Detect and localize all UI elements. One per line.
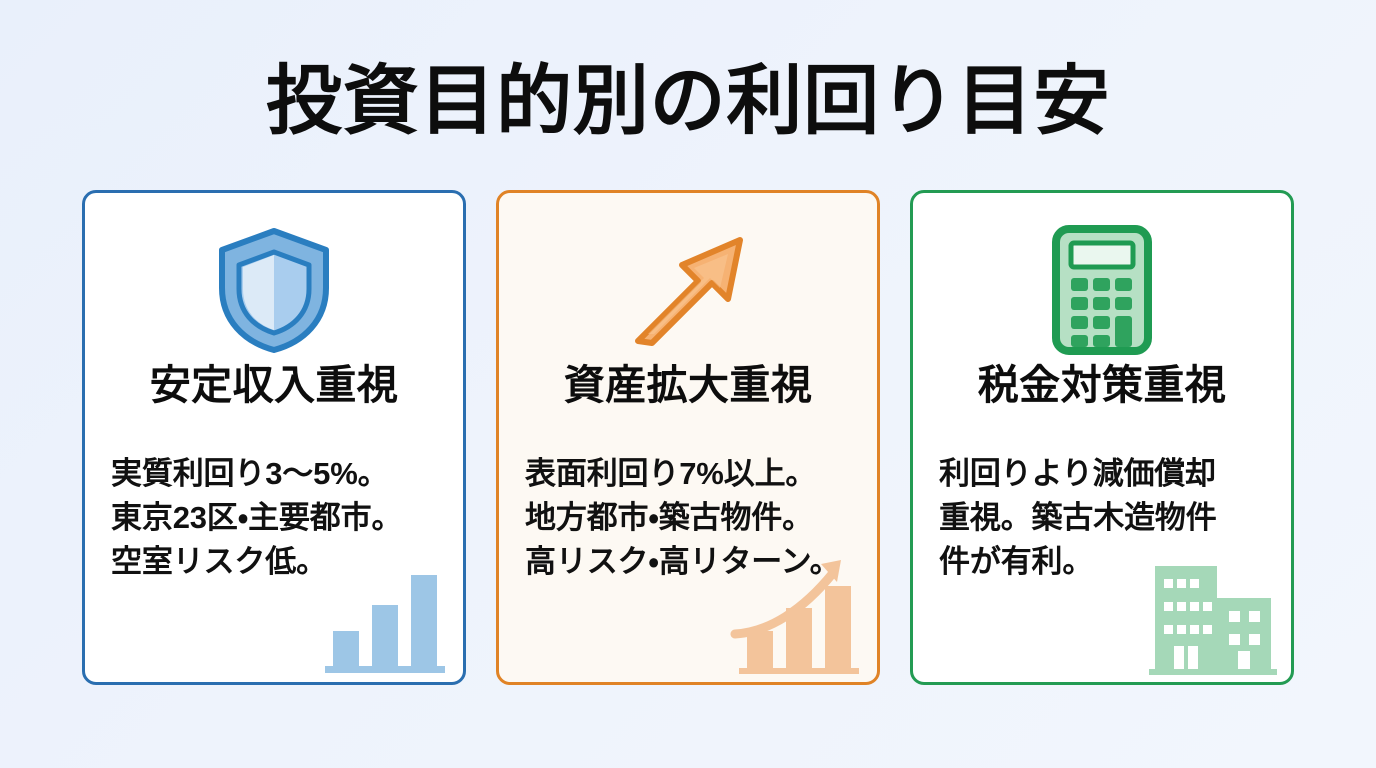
- calculator-icon: [933, 219, 1271, 361]
- card-body-line: 重視。築古木造物件: [939, 496, 1271, 540]
- card-tax-strategy[interactable]: 税金対策重視 利回りより減価償却 重視。築古木造物件 件が有利。: [910, 190, 1294, 685]
- card-body-line: 件が有利。: [939, 540, 1271, 584]
- card-body-stable-income: 実質利回り3〜5%。 東京23区・主要都市。 空室リスク低。: [105, 452, 443, 584]
- card-body-line: 東京23区・主要都市。: [111, 496, 443, 540]
- card-body-tax-strategy: 利回りより減価償却 重視。築古木造物件 件が有利。: [933, 452, 1271, 584]
- card-stable-income[interactable]: 安定収入重視 実質利回り3〜5%。 東京23区・主要都市。 空室リスク低。: [82, 190, 466, 685]
- card-body-line: 高リスク・高リターン。: [525, 540, 857, 584]
- card-heading-stable-income: 安定収入重視: [150, 363, 398, 408]
- card-asset-growth[interactable]: 資産拡大重視 表面利回り7%以上。 地方都市・築古物件。 高リスク・高リターン。: [496, 190, 880, 685]
- card-body-asset-growth: 表面利回り7%以上。 地方都市・築古物件。 高リスク・高リターン。: [519, 452, 857, 584]
- page-title: 投資目的別の利回り目安: [266, 62, 1110, 142]
- card-body-line: 実質利回り3〜5%。: [111, 452, 443, 496]
- up-arrow-icon: [519, 219, 857, 361]
- card-body-line: 表面利回り7%以上。: [525, 452, 857, 496]
- card-heading-asset-growth: 資産拡大重視: [564, 363, 812, 408]
- card-row: 安定収入重視 実質利回り3〜5%。 東京23区・主要都市。 空室リスク低。: [0, 190, 1376, 685]
- shield-icon: [105, 219, 443, 361]
- card-body-line: 空室リスク低。: [111, 540, 443, 584]
- card-body-line: 地方都市・築古物件。: [525, 496, 857, 540]
- card-heading-tax-strategy: 税金対策重視: [978, 363, 1226, 408]
- slide-root: 投資目的別の利回り目安 安定収入重視 実質利回り3〜5%。 東京23区・主要都市…: [0, 0, 1376, 768]
- card-body-line: 利回りより減価償却: [939, 452, 1271, 496]
